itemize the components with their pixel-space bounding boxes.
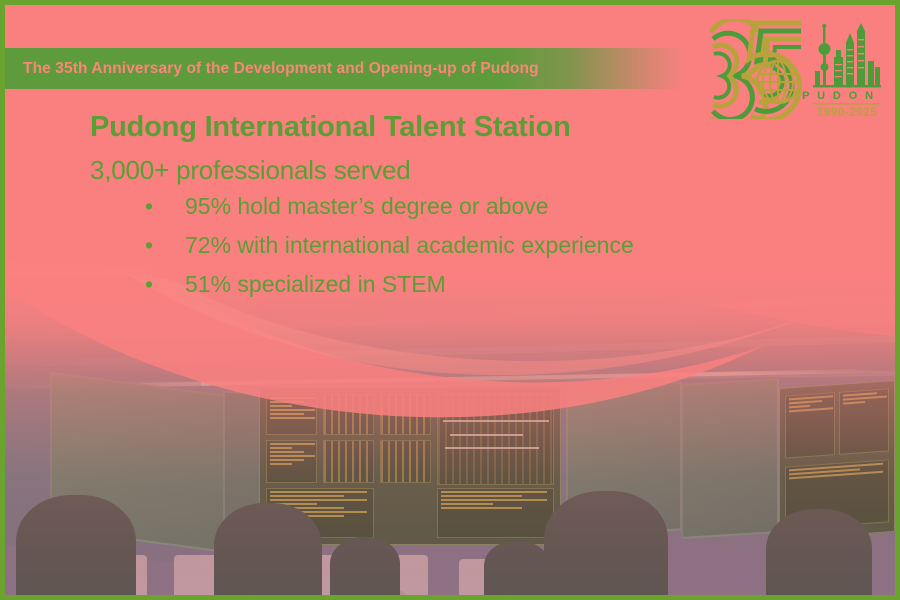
audience-member	[543, 506, 668, 595]
bullet-marker: •	[145, 273, 185, 296]
logo-years-label: 1990-2025	[817, 107, 877, 119]
audience-member	[325, 542, 405, 595]
data-panel	[437, 488, 554, 538]
logo-place-label: P U D O N G	[802, 90, 881, 102]
data-panel	[785, 392, 835, 458]
list-item: • 95% hold master’s degree or above	[145, 193, 634, 232]
shanghai-skyline-icon	[813, 23, 881, 87]
anniversary-banner-text: The 35th Anniversary of the Development …	[23, 60, 539, 78]
anniversary-logo: P U D O N G 1990-2025	[701, 19, 881, 119]
event-photo	[5, 265, 895, 595]
statistics-list: • 95% hold master’s degree or above • 72…	[145, 193, 634, 310]
logo-divider	[813, 103, 881, 105]
list-item-label: 95% hold master’s degree or above	[185, 193, 549, 220]
audience-member	[210, 516, 326, 595]
stock-chart-panel	[437, 394, 554, 485]
page-title: Pudong International Talent Station	[90, 111, 571, 144]
subtitle-professionals-served: 3,000+ professionals served	[90, 155, 411, 186]
data-panel	[380, 394, 431, 435]
numeral-3	[711, 19, 766, 119]
list-item: • 51% specialized in STEM	[145, 271, 634, 310]
bullet-marker: •	[145, 234, 185, 257]
photo-scene	[5, 265, 895, 595]
data-panel	[323, 394, 374, 435]
list-item-label: 72% with international academic experien…	[185, 232, 634, 259]
list-item: • 72% with international academic experi…	[145, 232, 634, 271]
bullet-marker: •	[145, 195, 185, 218]
anniversary-banner: The 35th Anniversary of the Development …	[5, 48, 685, 89]
numeral-5	[749, 23, 801, 119]
audience-member	[14, 509, 139, 595]
list-item-label: 51% specialized in STEM	[185, 271, 446, 298]
data-panel	[266, 440, 317, 484]
data-panel	[380, 440, 431, 484]
anniversary-logo-graphic: P U D O N G 1990-2025	[701, 19, 881, 119]
data-panel	[839, 389, 889, 455]
audience-member	[762, 513, 878, 596]
globe-icon	[757, 61, 799, 103]
data-panel	[266, 394, 317, 435]
poster-canvas: The 35th Anniversary of the Development …	[0, 0, 900, 600]
data-panel	[323, 440, 374, 484]
